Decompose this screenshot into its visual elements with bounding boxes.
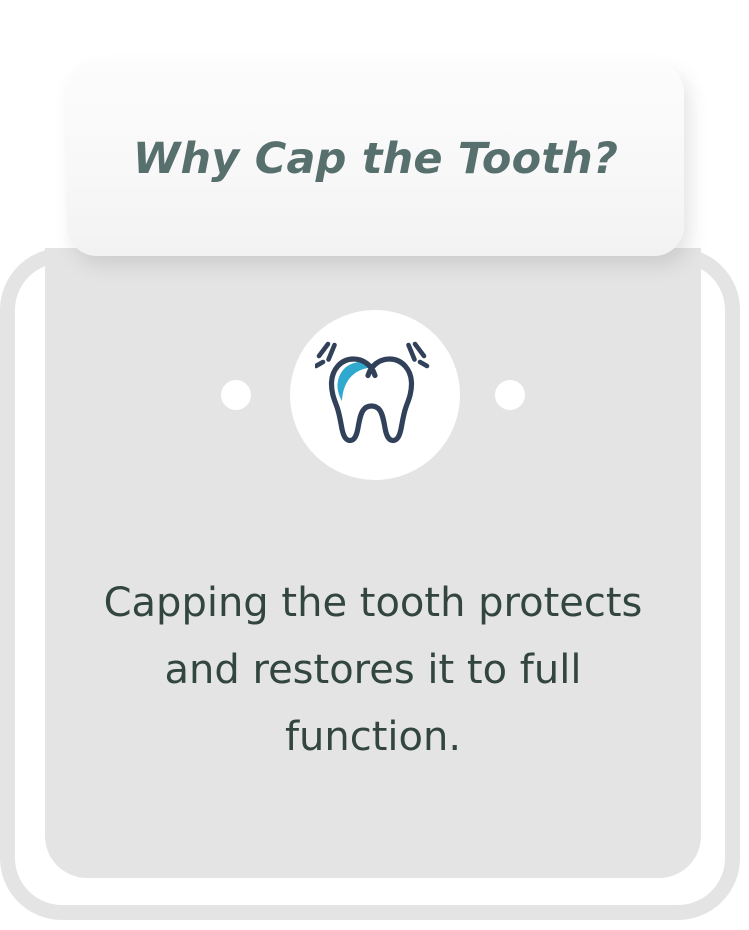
header-tab-card: Why Cap the Tooth? [67, 62, 684, 256]
decorative-dot-right [495, 380, 525, 410]
info-card-stage: Why Cap the Tooth? [0, 0, 749, 930]
sparkle-right [409, 344, 428, 366]
body-text: Capping the tooth protects and restores … [75, 570, 671, 771]
tooth-sparkle-icon [315, 339, 435, 451]
decorative-dot-left [221, 380, 251, 410]
icon-circle-backdrop [290, 310, 460, 480]
sparkle-left [316, 344, 335, 366]
icon-row [45, 310, 701, 482]
page-title: Why Cap the Tooth? [133, 134, 618, 184]
